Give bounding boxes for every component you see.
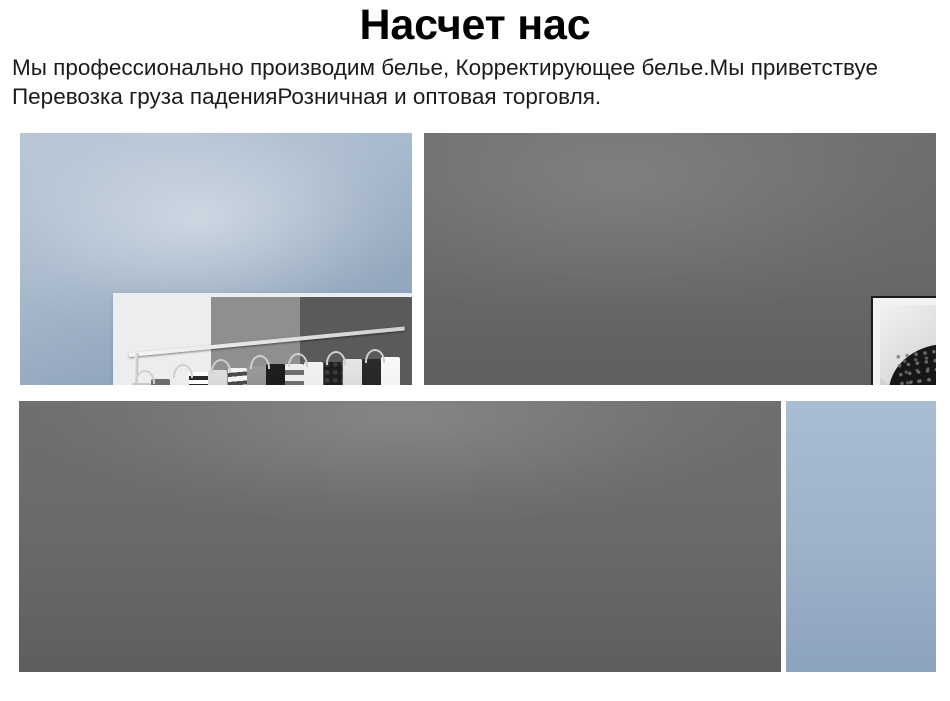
design-and-sewing-panel [19, 401, 781, 672]
about-us-banner: Насчет нас Мы профессионально производим… [0, 0, 950, 701]
lace-handwork-photo [873, 298, 936, 385]
warehouse-panel [786, 401, 936, 672]
photo-collage [0, 0, 950, 701]
clothing-rack-photo [113, 293, 412, 385]
showroom-panel [20, 133, 412, 385]
production-panel [424, 133, 936, 385]
